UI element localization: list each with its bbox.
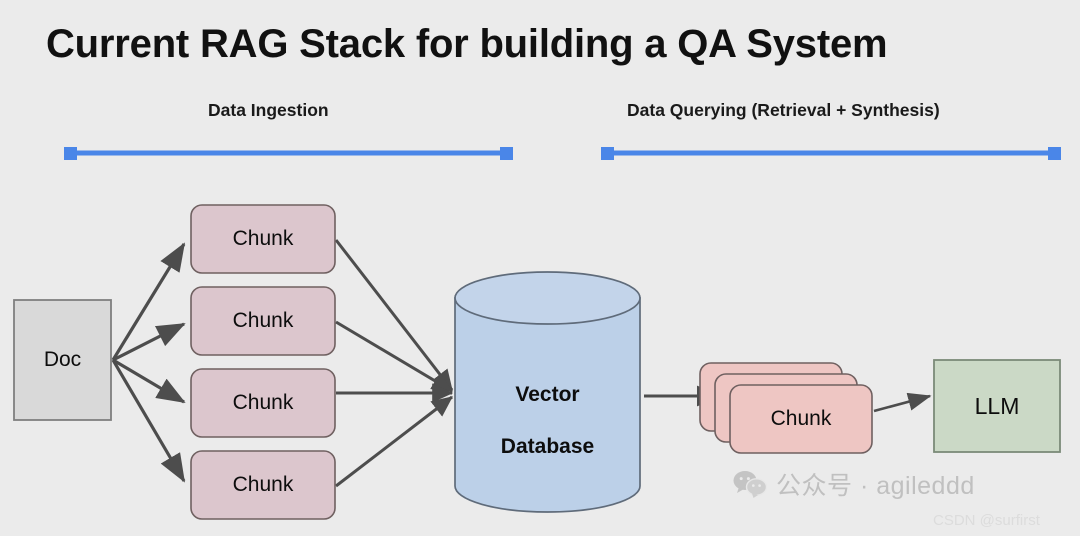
node-chunk-stack[interactable] [700, 363, 872, 453]
bracket-data-ingestion [64, 147, 513, 160]
bracket-endpoint-right [500, 147, 513, 160]
node-chunk-2[interactable] [191, 287, 335, 355]
connector-chunks-to-vectordb [336, 240, 452, 486]
connector-chunkstack-to-llm [874, 396, 930, 411]
node-chunk-1[interactable] [191, 205, 335, 273]
connector-doc-to-chunks [113, 244, 184, 481]
node-doc[interactable] [14, 300, 111, 420]
node-chunk-4[interactable] [191, 451, 335, 519]
node-llm[interactable] [934, 360, 1060, 452]
bracket-data-querying [601, 147, 1061, 160]
chunk-stack-card-front [730, 385, 872, 453]
bracket-endpoint-left [601, 147, 614, 160]
diagram-canvas: Current RAG Stack for building a QA Syst… [0, 0, 1080, 536]
bracket-endpoint-right [1048, 147, 1061, 160]
node-vector-database[interactable] [455, 272, 640, 512]
diagram-graphics [0, 0, 1080, 536]
node-chunk-3[interactable] [191, 369, 335, 437]
bracket-endpoint-left [64, 147, 77, 160]
